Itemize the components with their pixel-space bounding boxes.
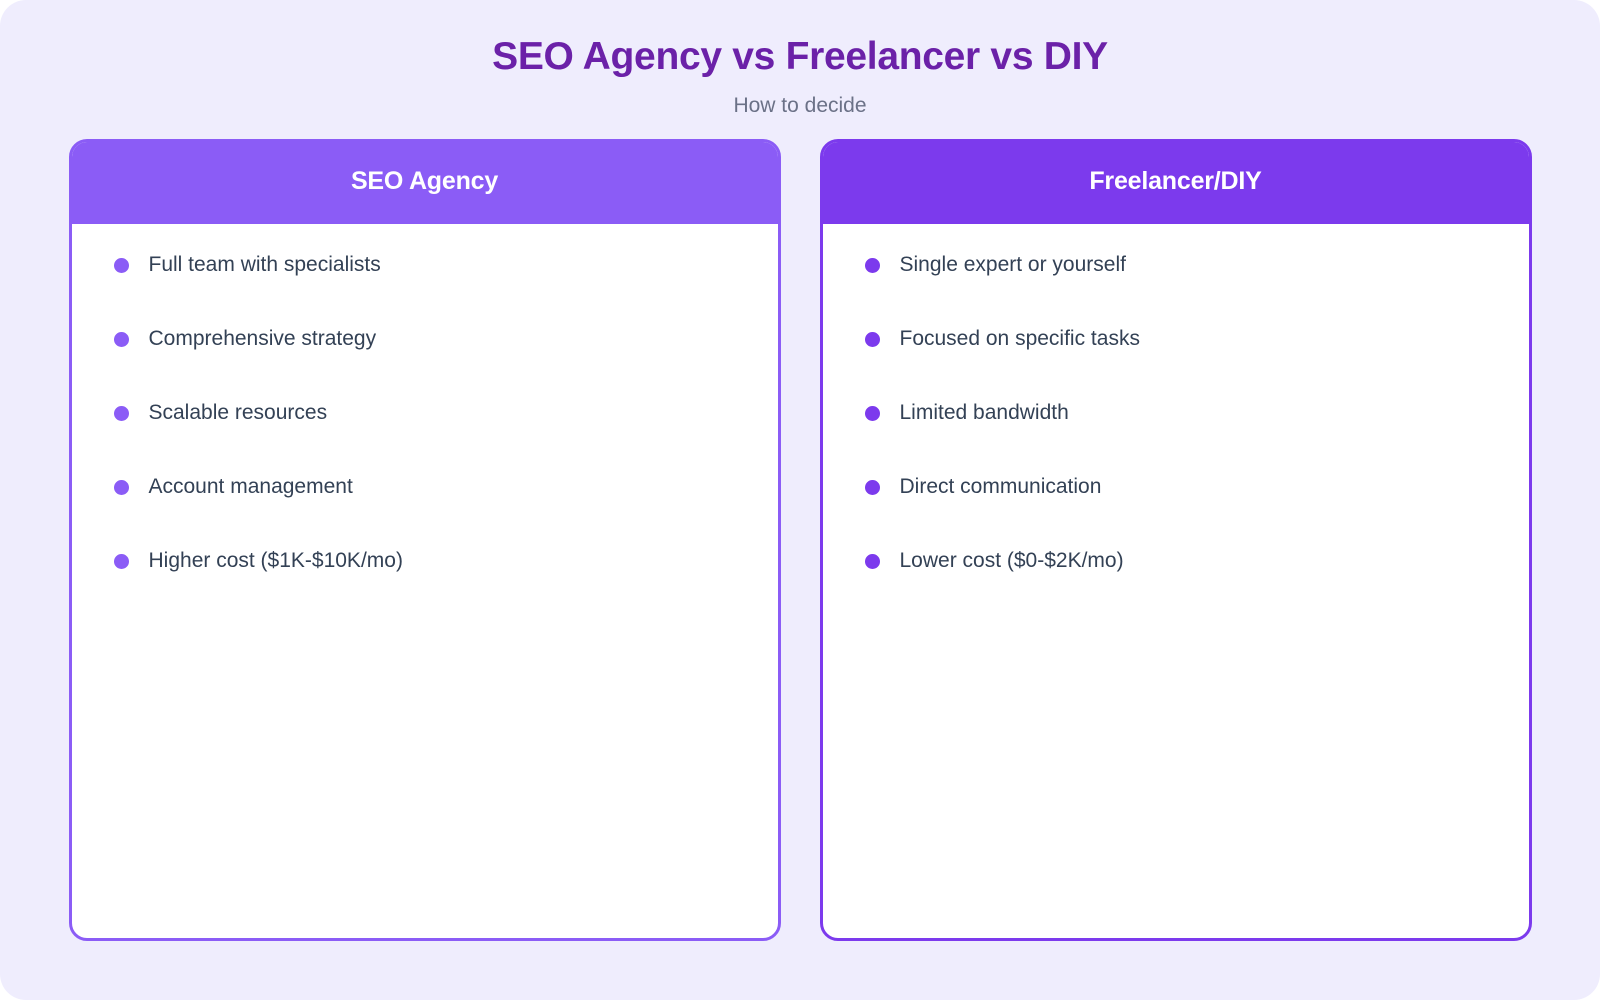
list-item-label: Direct communication xyxy=(900,472,1102,502)
dot-icon xyxy=(865,332,880,347)
card-title: Freelancer/DIY xyxy=(1089,167,1261,196)
comparison-columns: SEO Agency Full team with specialists Co… xyxy=(0,139,1600,941)
list-item-label: Full team with specialists xyxy=(149,250,381,280)
list-item: Scalable resources xyxy=(114,398,744,472)
card-title: SEO Agency xyxy=(351,167,498,196)
dot-icon xyxy=(865,554,880,569)
list-item: Single expert or yourself xyxy=(865,250,1495,324)
card-header-seo-agency: SEO Agency xyxy=(69,139,781,224)
list-item: Higher cost ($1K-$10K/mo) xyxy=(114,546,744,620)
dot-icon xyxy=(865,258,880,273)
dot-icon xyxy=(865,406,880,421)
page-title: SEO Agency vs Freelancer vs DIY xyxy=(0,36,1600,79)
comparison-card-freelancer-diy: Freelancer/DIY Single expert or yourself… xyxy=(820,139,1532,941)
list-item-label: Lower cost ($0-$2K/mo) xyxy=(900,546,1124,576)
dot-icon xyxy=(114,258,129,273)
list-item-label: Account management xyxy=(149,472,353,502)
card-body-seo-agency: Full team with specialists Comprehensive… xyxy=(72,224,778,938)
comparison-infographic: SEO Agency vs Freelancer vs DIY How to d… xyxy=(0,0,1600,1000)
page-header: SEO Agency vs Freelancer vs DIY How to d… xyxy=(0,0,1600,118)
list-item-label: Single expert or yourself xyxy=(900,250,1126,280)
list-item-label: Focused on specific tasks xyxy=(900,324,1140,354)
list-item: Comprehensive strategy xyxy=(114,324,744,398)
list-item-label: Comprehensive strategy xyxy=(149,324,377,354)
comparison-card-seo-agency: SEO Agency Full team with specialists Co… xyxy=(69,139,781,941)
list-item: Lower cost ($0-$2K/mo) xyxy=(865,546,1495,620)
list-item-label: Limited bandwidth xyxy=(900,398,1069,428)
dot-icon xyxy=(114,554,129,569)
dot-icon xyxy=(865,480,880,495)
dot-icon xyxy=(114,406,129,421)
list-item: Account management xyxy=(114,472,744,546)
list-item: Limited bandwidth xyxy=(865,398,1495,472)
page-subtitle: How to decide xyxy=(0,93,1600,118)
list-item-label: Scalable resources xyxy=(149,398,328,428)
card-header-freelancer-diy: Freelancer/DIY xyxy=(820,139,1532,224)
dot-icon xyxy=(114,480,129,495)
list-item-label: Higher cost ($1K-$10K/mo) xyxy=(149,546,403,576)
list-item: Focused on specific tasks xyxy=(865,324,1495,398)
list-item: Direct communication xyxy=(865,472,1495,546)
card-body-freelancer-diy: Single expert or yourself Focused on spe… xyxy=(823,224,1529,938)
dot-icon xyxy=(114,332,129,347)
list-item: Full team with specialists xyxy=(114,250,744,324)
